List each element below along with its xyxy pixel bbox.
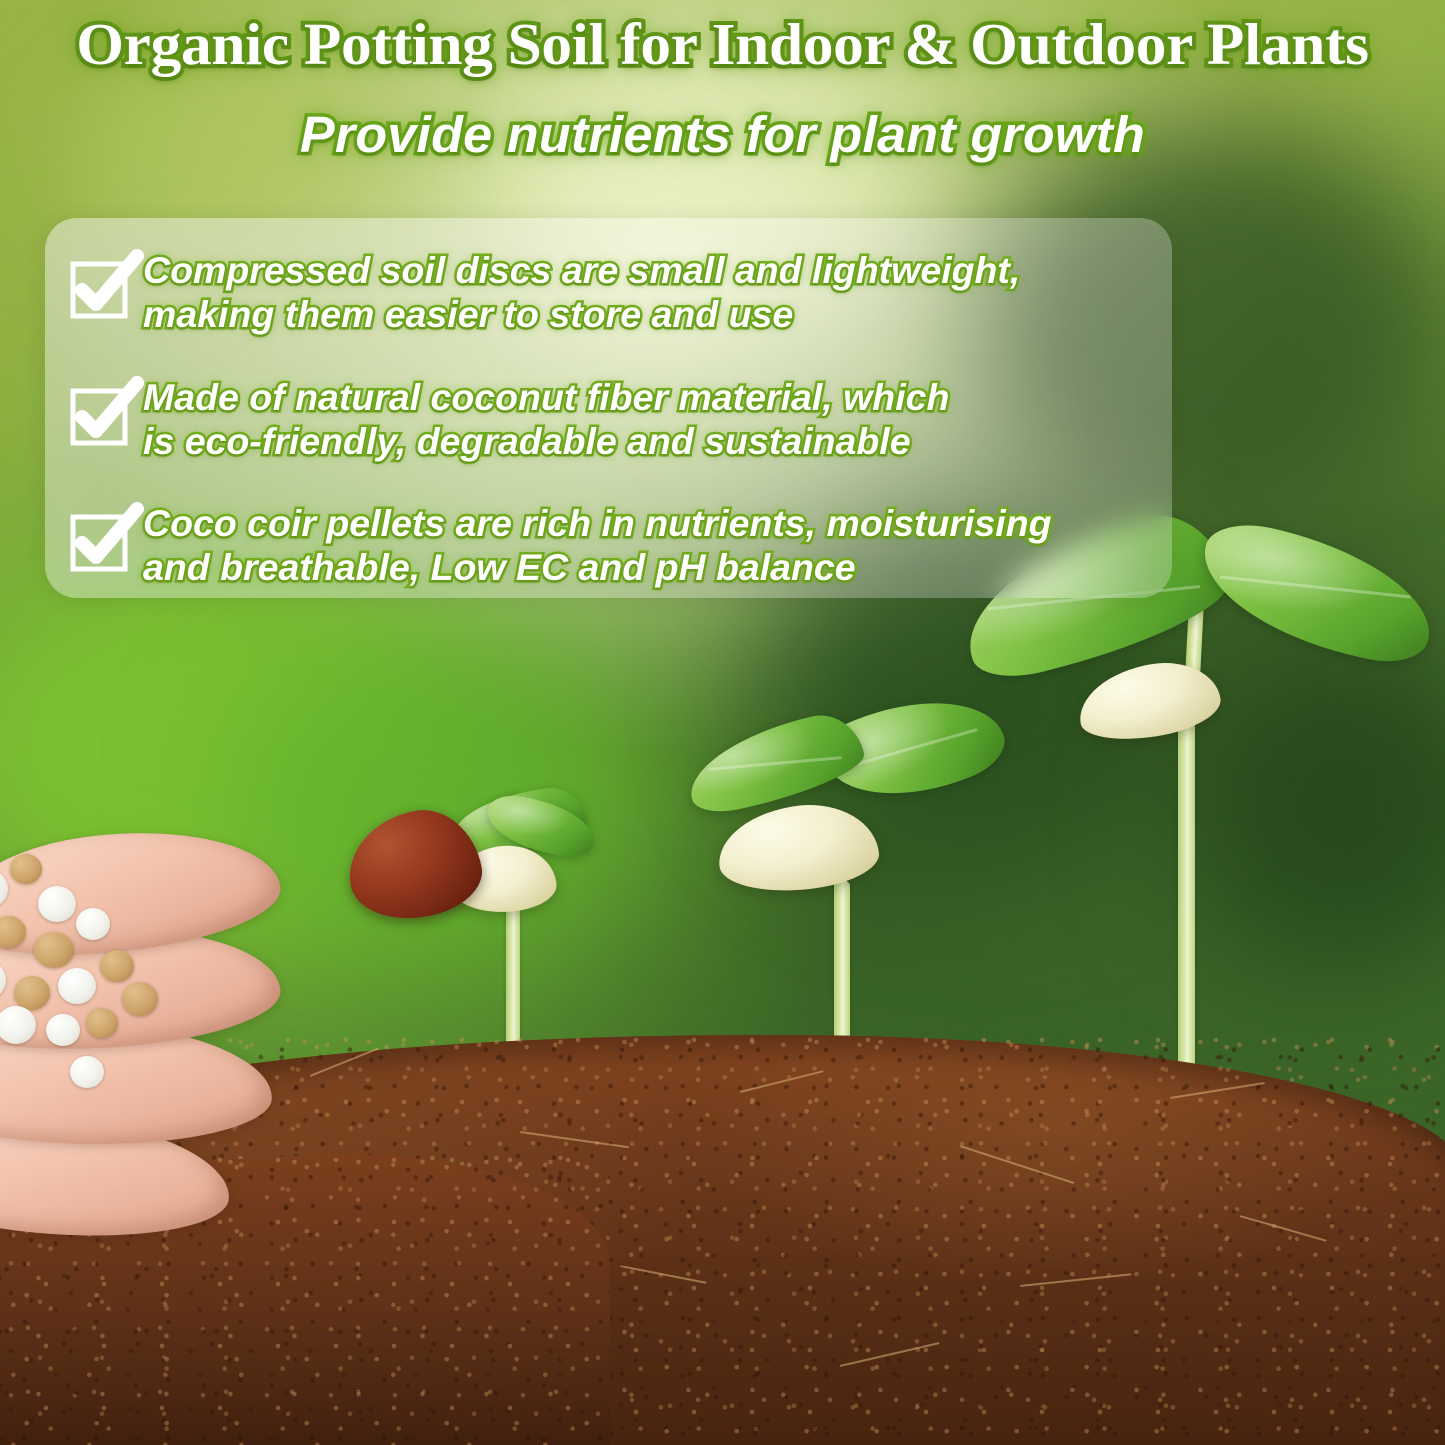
fertilizer-pellet: [14, 976, 50, 1010]
fertilizer-pellet: [76, 908, 110, 940]
feature-list: Compressed soil discs are small and ligh…: [45, 218, 1172, 598]
product-feature-image: Organic Potting Soil for Indoor & Outdoo…: [0, 0, 1445, 1445]
fertilizer-pellet: [100, 950, 134, 982]
feature-text: Coco coir pellets are rich in nutrients,…: [143, 501, 1052, 590]
fertilizer-pellet: [46, 1014, 80, 1046]
list-item: Coco coir pellets are rich in nutrients,…: [69, 501, 1138, 590]
list-item: Made of natural coconut fiber material, …: [69, 375, 1138, 464]
fertilizer-pellet: [86, 1008, 118, 1038]
page-subtitle: Provide nutrients for plant growth: [0, 105, 1445, 164]
leaf-vein: [846, 728, 978, 768]
leaf-vein: [708, 756, 842, 771]
feature-text: Compressed soil discs are small and ligh…: [143, 248, 1020, 337]
fertilizer-pellet: [10, 854, 42, 884]
page-title: Organic Potting Soil for Indoor & Outdoo…: [0, 10, 1445, 79]
checkbox-checked-icon: [69, 381, 143, 447]
leaf-vein: [1220, 575, 1411, 598]
list-item: Compressed soil discs are small and ligh…: [69, 248, 1138, 337]
fertilizer-pellet: [70, 1056, 104, 1088]
checkbox-checked-icon: [69, 254, 143, 320]
fertilizer-pellet: [122, 982, 158, 1016]
checkbox-checked-icon: [69, 507, 143, 573]
feature-text: Made of natural coconut fiber material, …: [143, 375, 949, 464]
fertilizer-pellet: [58, 968, 96, 1004]
fertilizer-pellet: [38, 886, 76, 922]
hand-holding-fertilizer-pellets: [0, 800, 380, 1270]
fertilizer-pellet: [34, 932, 74, 968]
